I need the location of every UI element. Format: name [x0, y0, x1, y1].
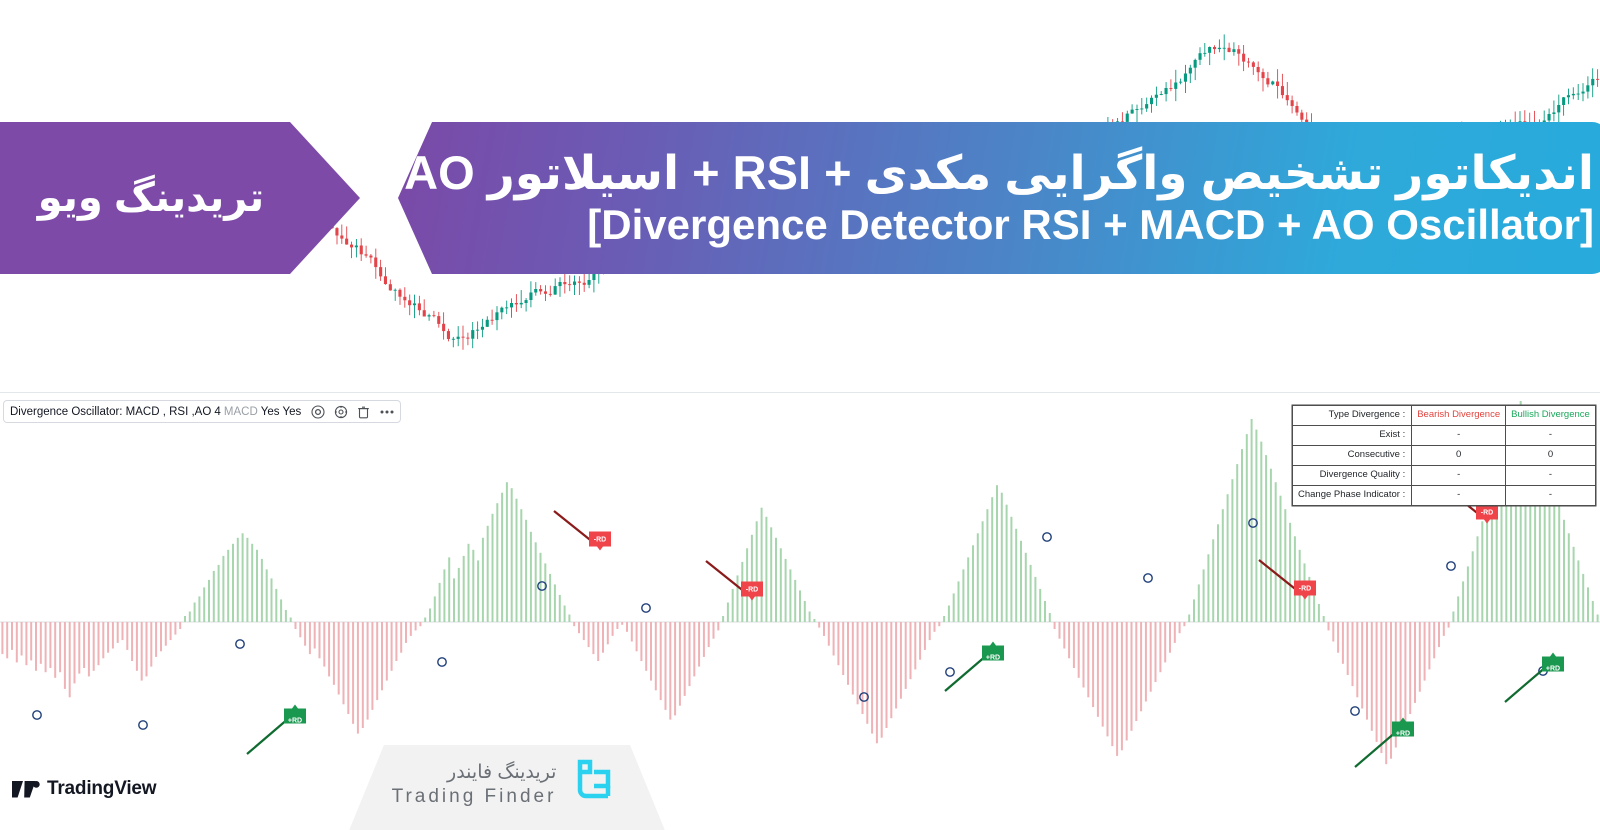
histogram-bar	[1049, 613, 1051, 622]
histogram-bar	[886, 622, 888, 728]
histogram-bar	[943, 616, 945, 622]
histogram-bar	[660, 622, 662, 700]
histogram-bar	[962, 569, 964, 622]
table-cell-bearish: -	[1412, 466, 1506, 486]
histogram-bar	[314, 622, 316, 649]
histogram-bar	[530, 532, 532, 622]
histogram-bar	[640, 622, 642, 661]
divergence-marker-label: -RD	[1481, 510, 1493, 517]
histogram-bar	[64, 622, 66, 689]
histogram-bar	[419, 622, 421, 626]
histogram-bar	[1433, 622, 1435, 658]
histogram-bar	[602, 622, 604, 653]
histogram-bar	[833, 622, 835, 656]
histogram-bar	[1573, 547, 1575, 622]
banner-title-en: [Divergence Detector RSI + MACD + AO Osc…	[398, 200, 1600, 250]
histogram-bar	[1409, 622, 1411, 714]
histogram-bar	[823, 622, 825, 636]
histogram-bar	[453, 578, 455, 622]
histogram-bar	[266, 569, 268, 622]
histogram-bar	[756, 521, 758, 622]
histogram-bar	[544, 563, 546, 622]
histogram-bar	[30, 622, 32, 660]
histogram-bar	[645, 622, 647, 671]
histogram-bar	[443, 569, 445, 622]
histogram-bar	[347, 622, 349, 714]
histogram-bar	[434, 596, 436, 622]
histogram-bar	[405, 622, 407, 643]
histogram-bar	[626, 622, 628, 632]
indicator-args: 4 MACD Yes Yes	[214, 406, 301, 418]
histogram-bar	[1059, 622, 1061, 639]
histogram-bar	[323, 622, 325, 667]
histogram-bar	[1558, 506, 1560, 622]
histogram-bar	[1284, 509, 1286, 622]
divergence-marker-label: +RD	[1396, 731, 1410, 738]
histogram-bar	[1424, 622, 1426, 681]
histogram-bar	[1337, 622, 1339, 653]
histogram-bar	[1597, 615, 1599, 623]
histogram-bar	[271, 578, 273, 622]
histogram-bar	[74, 622, 76, 683]
histogram-bar	[194, 603, 196, 623]
histogram-bar	[222, 556, 224, 622]
histogram-bar	[1246, 434, 1248, 622]
histogram-bar	[246, 538, 248, 622]
histogram-bar	[516, 499, 518, 622]
indicator-arg-source: MACD	[224, 406, 258, 418]
pivot-circle-marker	[1447, 562, 1455, 570]
histogram-bar	[1376, 622, 1378, 742]
histogram-bar	[1270, 469, 1272, 622]
pivot-circle-marker	[438, 658, 446, 666]
table-row-label: Change Phase Indicator :	[1293, 486, 1412, 506]
histogram-bar	[410, 622, 412, 636]
histogram-bar	[900, 622, 902, 699]
histogram-bar	[1227, 494, 1229, 622]
histogram-bar	[780, 548, 782, 622]
histogram-bar	[958, 581, 960, 622]
table-row: Exist :--	[1293, 426, 1596, 446]
histogram-bar	[905, 622, 907, 689]
histogram-bar	[386, 622, 388, 681]
histogram-bar	[1443, 622, 1445, 636]
histogram-bar	[847, 622, 849, 685]
histogram-bar	[1380, 622, 1382, 753]
trading-finder-watermark: تریدینگ فایندر Trading Finder	[348, 745, 666, 830]
tradingview-wordmark: TradingView	[47, 778, 156, 800]
bearish-divergence-line	[1259, 560, 1299, 592]
histogram-bar	[333, 622, 335, 685]
histogram-bar	[751, 535, 753, 622]
tradingview-logo: TradingView	[12, 778, 156, 800]
histogram-bar	[468, 544, 470, 622]
histogram-bar	[837, 622, 839, 665]
histogram-bar	[218, 565, 220, 622]
histogram-bar	[415, 622, 417, 630]
histogram-bar	[785, 559, 787, 622]
table-row-label: Divergence Quality :	[1293, 466, 1412, 486]
histogram-bar	[1174, 622, 1176, 643]
histogram-bar	[122, 622, 124, 640]
histogram-bar	[703, 622, 705, 657]
histogram-bar	[1366, 622, 1368, 720]
bearish-divergence-line	[706, 561, 746, 593]
table-row-label: Exist :	[1293, 426, 1412, 446]
histogram-bar	[636, 622, 638, 651]
histogram-bar	[578, 622, 580, 633]
histogram-bar	[463, 556, 465, 622]
table-row: Divergence Quality :--	[1293, 466, 1596, 486]
histogram-bar	[1328, 622, 1330, 630]
histogram-bar	[1260, 442, 1262, 622]
histogram-bar	[290, 618, 292, 623]
histogram-bar	[1352, 622, 1354, 686]
histogram-bar	[511, 488, 513, 622]
histogram-bar	[275, 589, 277, 622]
histogram-bar	[982, 521, 984, 622]
histogram-bar	[391, 622, 393, 671]
histogram-bar	[338, 622, 340, 695]
divergence-marker-label: -RD	[1299, 586, 1311, 593]
histogram-bar	[174, 622, 176, 635]
histogram-bar	[914, 622, 916, 669]
histogram-bar	[977, 533, 979, 622]
indicator-arg-length: 4	[214, 406, 220, 418]
histogram-bar	[1207, 554, 1209, 622]
bearish-divergence-marker[interactable]: -RD	[589, 532, 611, 551]
histogram-bar	[765, 517, 767, 622]
histogram-bar	[232, 544, 234, 622]
histogram-bar	[1155, 622, 1157, 682]
histogram-bar	[1063, 622, 1065, 649]
table-cell-bearish: 0	[1412, 446, 1506, 466]
histogram-bar	[813, 619, 815, 622]
histogram-bar	[1356, 622, 1358, 697]
histogram-bar	[1251, 419, 1253, 622]
histogram-bar	[612, 622, 614, 636]
divergence-marker-label: -RD	[594, 537, 606, 544]
histogram-bar	[852, 622, 854, 695]
histogram-bar	[448, 557, 450, 622]
histogram-bar	[304, 622, 306, 646]
histogram-bar	[1078, 622, 1080, 678]
histogram-bar	[376, 622, 378, 700]
histogram-bar	[1020, 541, 1022, 622]
divergence-info-table: Type Divergence :Bearish DivergenceBulli…	[1292, 405, 1596, 506]
histogram-bar	[876, 622, 878, 743]
histogram-bar	[1371, 622, 1373, 731]
histogram-bar	[1169, 622, 1171, 653]
histogram-bar	[934, 622, 936, 632]
histogram-bar	[1486, 506, 1488, 622]
histogram-bar	[1164, 622, 1166, 662]
histogram-bar	[722, 616, 724, 622]
histogram-bar	[573, 622, 575, 626]
histogram-bar	[1140, 622, 1142, 711]
histogram-bar	[540, 553, 542, 622]
histogram-bar	[150, 622, 152, 667]
histogram-bar	[554, 584, 556, 622]
histogram-bar	[732, 589, 734, 622]
histogram-bar	[1087, 622, 1089, 697]
table-row: Type Divergence :Bearish DivergenceBulli…	[1293, 406, 1596, 426]
table-cell-bearish: -	[1412, 426, 1506, 446]
histogram-bar	[689, 622, 691, 686]
histogram-bar	[693, 622, 695, 676]
histogram-bar	[203, 587, 205, 622]
indicator-name: Divergence Oscillator: MACD , RSI ,AO	[10, 406, 211, 418]
histogram-bar	[1275, 482, 1277, 622]
histogram-bar	[881, 622, 883, 738]
histogram-bar	[559, 595, 561, 622]
histogram-bar	[242, 533, 244, 622]
histogram-bar	[328, 622, 330, 676]
histogram-bar	[381, 622, 383, 690]
table-cell-bullish: -	[1506, 486, 1596, 506]
histogram-bar	[93, 622, 95, 671]
histogram-bar	[83, 622, 85, 668]
histogram-bar	[1034, 577, 1036, 622]
bullish-divergence-marker[interactable]: +RD	[982, 642, 1004, 662]
more-options-icon[interactable]	[379, 405, 395, 419]
histogram-bar	[535, 542, 537, 622]
histogram-bar	[1265, 455, 1267, 622]
pivot-circle-marker	[1351, 707, 1359, 715]
histogram-bar	[1135, 622, 1137, 721]
histogram-bar	[295, 622, 297, 629]
histogram-bar	[1404, 622, 1406, 725]
divergence-marker-label: -RD	[746, 587, 758, 594]
histogram-bar	[717, 622, 719, 630]
histogram-bar	[237, 538, 239, 622]
histogram-bar	[1467, 566, 1469, 622]
histogram-bar	[1193, 599, 1195, 622]
histogram-bar	[1390, 622, 1392, 759]
histogram-bar	[1231, 479, 1233, 622]
histogram-bar	[395, 622, 397, 661]
histogram-bar	[1198, 584, 1200, 622]
bearish-divergence-marker[interactable]: -RD	[1294, 581, 1316, 600]
histogram-bar	[1294, 536, 1296, 622]
table-cell-bearish: Bearish Divergence	[1412, 406, 1506, 426]
histogram-bar	[54, 622, 56, 678]
histogram-bar	[165, 622, 167, 646]
histogram-bar	[708, 622, 710, 647]
histogram-bar	[458, 568, 460, 622]
histogram-bar	[713, 622, 715, 639]
histogram-bar	[1222, 509, 1224, 622]
histogram-bar	[684, 622, 686, 696]
histogram-bar	[607, 622, 609, 644]
histogram-bar	[919, 622, 921, 660]
histogram-bar	[1361, 622, 1363, 709]
histogram-bar	[1092, 622, 1094, 707]
histogram-bar	[482, 538, 484, 622]
histogram-bar	[655, 622, 657, 690]
histogram-bar	[866, 622, 868, 724]
histogram-bar	[1188, 615, 1190, 623]
histogram-bar	[49, 622, 51, 668]
histogram-bar	[352, 622, 354, 724]
histogram-bar	[1126, 622, 1128, 741]
histogram-bar	[472, 550, 474, 622]
histogram-bar	[986, 509, 988, 622]
histogram-bar	[424, 618, 426, 623]
table-cell-bullish: 0	[1506, 446, 1596, 466]
trading-finder-logo-icon	[572, 758, 622, 810]
histogram-bar	[1097, 622, 1099, 717]
histogram-bar	[1015, 529, 1017, 622]
histogram-bar	[857, 622, 859, 704]
histogram-bar	[1477, 536, 1479, 622]
banner-title-fa: اندیکاتور تشخیص واگرایی مکدی + RSI + اسی…	[398, 147, 1600, 200]
histogram-bar	[261, 559, 263, 622]
settings-icon[interactable]	[334, 405, 348, 419]
table-cell-bullish: -	[1506, 426, 1596, 446]
divergence-marker-label: +RD	[1546, 666, 1560, 673]
histogram-bar	[1587, 587, 1589, 622]
histogram-bar	[146, 622, 148, 676]
histogram-bar	[953, 593, 955, 622]
histogram-bar	[343, 622, 345, 704]
bullish-divergence-marker[interactable]: +RD	[1542, 653, 1564, 673]
histogram-bar	[1385, 622, 1387, 764]
pivot-circle-marker	[236, 640, 244, 648]
histogram-bar	[1592, 601, 1594, 622]
histogram-bar	[1280, 496, 1282, 622]
histogram-bar	[6, 622, 8, 658]
histogram-bar	[842, 622, 844, 675]
histogram-bar	[650, 622, 652, 681]
table-cell-bearish: -	[1412, 486, 1506, 506]
histogram-bar	[251, 544, 253, 622]
histogram-bar	[78, 622, 80, 674]
histogram-bar	[299, 622, 301, 637]
histogram-bar	[16, 622, 18, 662]
histogram-bar	[1347, 622, 1349, 675]
histogram-bar	[319, 622, 321, 658]
histogram-bar	[588, 622, 590, 647]
histogram-bar	[549, 574, 551, 622]
histogram-bar	[367, 622, 369, 720]
trash-icon[interactable]	[357, 405, 370, 419]
bearish-divergence-marker[interactable]: -RD	[1476, 505, 1498, 524]
pivot-circle-marker	[33, 711, 41, 719]
histogram-bar	[1083, 622, 1085, 688]
histogram-bar	[1073, 622, 1075, 668]
histogram-bar	[1121, 622, 1123, 750]
histogram-bar	[621, 622, 623, 625]
histogram-bar	[1116, 622, 1118, 756]
histogram-bar	[35, 622, 37, 671]
histogram-bar	[1462, 581, 1464, 622]
histogram-bar	[155, 622, 157, 657]
histogram-bar	[770, 527, 772, 622]
table-row: Change Phase Indicator :--	[1293, 486, 1596, 506]
table-cell-bullish: -	[1506, 466, 1596, 486]
histogram-bar	[665, 622, 667, 710]
bullish-divergence-marker[interactable]: +RD	[284, 705, 306, 725]
eye-icon[interactable]	[311, 405, 325, 419]
bearish-divergence-line	[554, 511, 594, 543]
histogram-bar	[136, 622, 138, 671]
histogram-bar	[1236, 464, 1238, 622]
histogram-bar	[1102, 622, 1104, 727]
tradingview-mark-icon	[12, 781, 40, 798]
title-banner: تریدینگ ویو اندیکاتور تشخیص واگرایی مکدی…	[0, 122, 1600, 274]
bullish-divergence-line	[1505, 666, 1547, 702]
table-row: Consecutive :00	[1293, 446, 1596, 466]
histogram-bar	[1582, 574, 1584, 622]
histogram-bar	[1400, 622, 1402, 736]
histogram-bar	[674, 622, 676, 715]
bullish-divergence-line	[247, 718, 289, 754]
histogram-bar	[189, 612, 191, 623]
histogram-bar	[1438, 622, 1440, 647]
histogram-bar	[40, 622, 42, 664]
banner-main-panel: اندیکاتور تشخیص واگرایی مکدی + RSI + اسی…	[398, 122, 1600, 274]
table-cell-bullish: Bullish Divergence	[1506, 406, 1596, 426]
histogram-bar	[818, 622, 820, 628]
histogram-bar	[1010, 517, 1012, 622]
histogram-bar	[1332, 622, 1334, 642]
histogram-bar	[107, 622, 109, 653]
banner-left-tab-label: تریدینگ ویو	[0, 175, 325, 221]
histogram-bar	[11, 622, 13, 650]
histogram-bar	[799, 590, 801, 622]
histogram-bar	[1111, 622, 1113, 746]
histogram-bar	[1577, 560, 1579, 622]
pivot-circle-marker	[946, 668, 954, 676]
histogram-bar	[141, 622, 143, 681]
histogram-bar	[1, 622, 3, 654]
histogram-bar	[597, 622, 599, 661]
histogram-bar	[991, 497, 993, 622]
histogram-bar	[1039, 589, 1041, 622]
histogram-bar	[1159, 622, 1161, 672]
histogram-bar	[1203, 569, 1205, 622]
histogram-bar	[184, 616, 186, 622]
histogram-bar	[669, 622, 671, 720]
pivot-circle-marker	[642, 604, 650, 612]
histogram-bar	[160, 622, 162, 651]
histogram-bar	[362, 622, 364, 728]
histogram-bar	[583, 622, 585, 640]
histogram-bar	[631, 622, 633, 642]
histogram-bar	[809, 612, 811, 623]
histogram-bar	[102, 622, 104, 658]
bearish-divergence-marker[interactable]: -RD	[741, 582, 763, 601]
histogram-bar	[1414, 622, 1416, 703]
histogram-bar	[1001, 493, 1003, 622]
histogram-bar	[69, 622, 71, 697]
histogram-bar	[679, 622, 681, 706]
histogram-bar	[1217, 524, 1219, 622]
histogram-bar	[45, 622, 47, 672]
histogram-bar	[1428, 622, 1430, 669]
histogram-bar	[117, 622, 119, 643]
histogram-bar	[1419, 622, 1421, 692]
divergence-marker-label: +RD	[288, 718, 302, 725]
indicator-legend[interactable]: Divergence Oscillator: MACD , RSI ,AO 4 …	[3, 400, 401, 423]
histogram-bar	[910, 622, 912, 679]
histogram-bar	[1457, 596, 1459, 622]
histogram-bar	[439, 583, 441, 622]
histogram-bar	[1553, 493, 1555, 622]
histogram-bar	[568, 615, 570, 623]
histogram-bar	[98, 622, 100, 665]
